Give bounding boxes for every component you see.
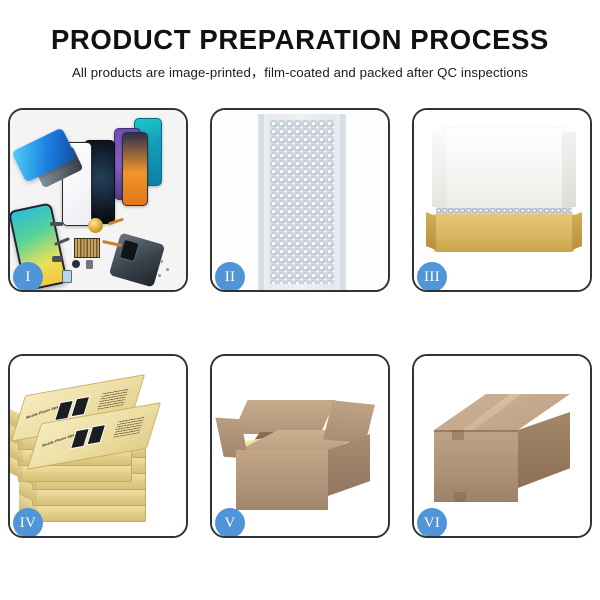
page-subtitle: All products are image-printed，film-coat… [0, 62, 600, 81]
camera-module-part [88, 218, 103, 233]
step-badge-2: II [215, 262, 245, 292]
battery-connector-part [50, 222, 63, 226]
products-and-parts-illustration [10, 110, 186, 290]
ic-chip-tray-part [74, 238, 100, 258]
box-label-text-block-front [113, 416, 144, 438]
page-title: PRODUCT PREPARATION PROCESS [0, 26, 600, 55]
bag-seam-left [258, 114, 264, 290]
step-badge-6: VI [417, 508, 447, 538]
stacked-box-5 [32, 488, 146, 506]
step-badge-5: V [215, 508, 245, 538]
process-step-panel-5: V [210, 354, 390, 538]
process-step-panel-3: III [412, 108, 592, 292]
sealed-carton-front [434, 430, 518, 502]
screw-part-2 [166, 268, 169, 271]
bag-seam-right [340, 114, 346, 290]
glass-lens-part [62, 270, 72, 283]
screw-part-3 [158, 274, 161, 277]
step-badge-3: III [417, 262, 447, 292]
process-step-panel-2: II [210, 108, 390, 292]
yellow-inner-box-tray [434, 214, 574, 252]
box-label-image-front-1 [70, 428, 90, 449]
inner-box-illustration [414, 110, 590, 290]
open-carton-illustration [212, 356, 388, 536]
sim-tray-part [86, 260, 93, 269]
process-step-panel-6: VI [412, 354, 592, 538]
process-step-grid: I II III [8, 108, 592, 538]
header: PRODUCT PREPARATION PROCESS All products… [0, 0, 600, 81]
carton-flap-back [232, 400, 335, 434]
stacked-boxes-illustration: Mobile Phone Spare Parts Mobile Phone Sp… [10, 356, 186, 536]
carton-tab-upper [452, 430, 464, 440]
step-badge-1: I [13, 262, 43, 292]
process-step-panel-1: I [8, 108, 188, 292]
phone-orange [122, 132, 148, 206]
sealed-carton-illustration [414, 356, 590, 536]
carton-front-face [236, 450, 328, 510]
speaker-part [52, 256, 62, 262]
bubble-wrap-illustration [212, 110, 388, 290]
box-stack: Mobile Phone Spare Parts Mobile Phone Sp… [18, 378, 182, 520]
white-foam-lid [442, 126, 566, 218]
box-label-text-block-rear [97, 388, 128, 410]
carton-tab-lower [454, 492, 466, 502]
stacked-box-6 [32, 504, 146, 522]
screw-part-1 [160, 260, 163, 263]
bubble-wrap-bag [260, 114, 344, 290]
vibrator-part [72, 260, 80, 268]
bubble-texture [270, 120, 334, 284]
carton-edge-seam [434, 430, 518, 432]
step-badge-4: IV [13, 508, 43, 538]
process-step-panel-4: Mobile Phone Spare Parts Mobile Phone Sp… [8, 354, 188, 538]
